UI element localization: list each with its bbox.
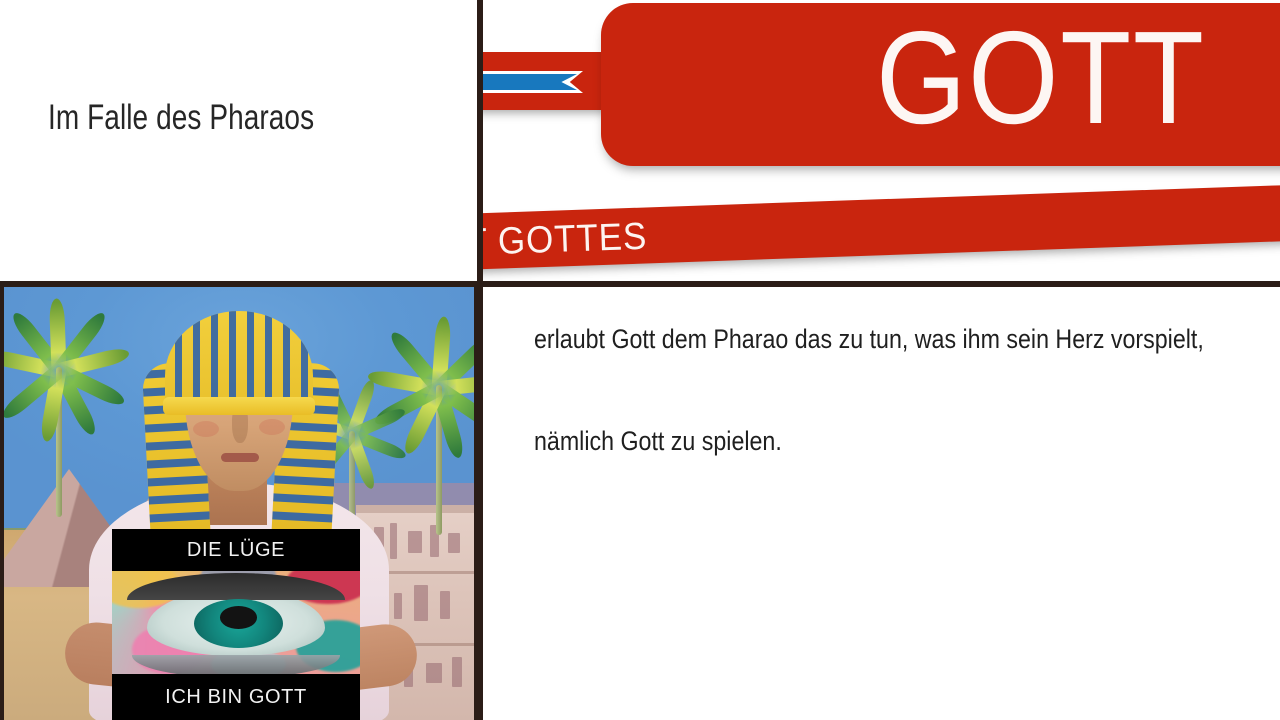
meme-bottom-text: ICH BIN GOTT <box>112 674 360 720</box>
divider-horizontal-right <box>477 281 1280 287</box>
palm-tree-icon <box>4 327 124 527</box>
quadrant-bottom-right-text: erlaubt Gott dem Pharao das zu tun, was … <box>483 287 1280 720</box>
pharaoh-painting: DIE LÜGE ICH BIN GOTT <box>4 287 474 720</box>
presentation-slide: Im Falle des Pharaos GOTT T GOTTES <box>0 0 1280 720</box>
divider-vertical <box>477 0 483 720</box>
callout-label-gott: GOTT <box>876 2 1206 154</box>
low-poly-eye-image <box>112 571 360 674</box>
quadrant-top-right-graphic: GOTT T GOTTES <box>483 0 1280 281</box>
banner-label: T GOTTES <box>483 216 648 265</box>
body-paragraph-1: erlaubt Gott dem Pharao das zu tun, was … <box>534 321 1248 357</box>
slanted-red-banner: T GOTTES <box>483 196 1280 280</box>
divider-horizontal-left <box>0 281 480 287</box>
quadrant-bottom-left-image: DIE LÜGE ICH BIN GOTT <box>0 287 477 720</box>
meme-overlay: DIE LÜGE ICH BIN GOTT <box>112 529 360 720</box>
page-title: Im Falle des Pharaos <box>48 98 314 138</box>
headdress-band <box>163 397 315 415</box>
meme-top-text: DIE LÜGE <box>112 529 360 571</box>
quadrant-top-left: Im Falle des Pharaos <box>0 0 477 281</box>
body-paragraph-2: nämlich Gott zu spielen. <box>534 423 1248 459</box>
